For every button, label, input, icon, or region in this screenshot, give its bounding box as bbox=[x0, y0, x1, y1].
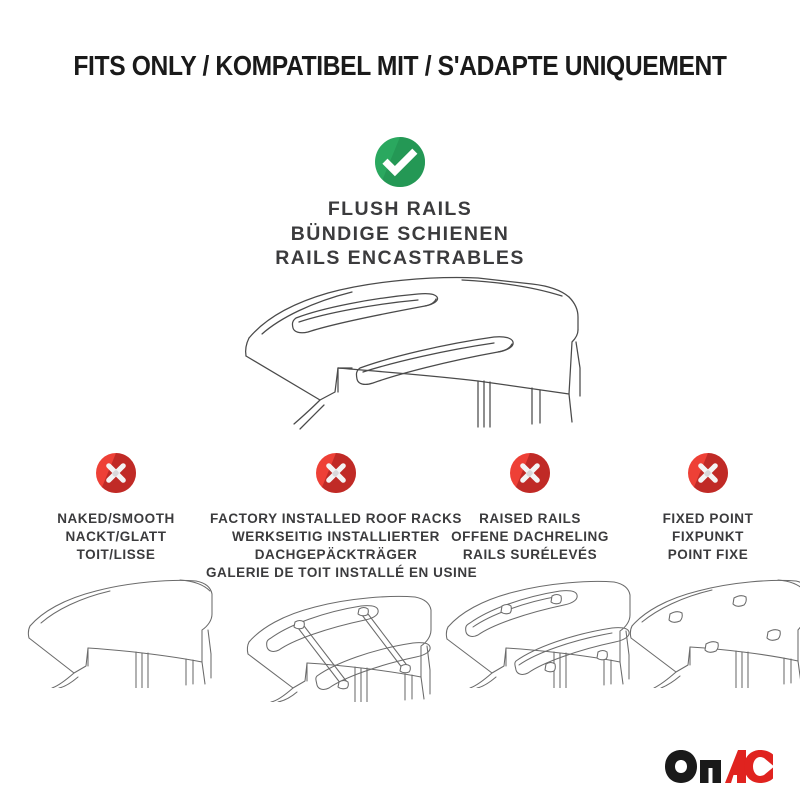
x-circle-icon bbox=[509, 452, 551, 494]
label-de: WERKSEITIG INSTALLIERTER bbox=[206, 528, 466, 546]
incompatible-item-naked-smooth: NAKED/SMOOTH NACKT/GLATT TOIT/LISSE bbox=[6, 452, 226, 690]
incompatible-item-factory-installed-roof-racks: FACTORY INSTALLED ROOF RACKS WERKSEITIG … bbox=[206, 452, 466, 704]
omac-logo: OMAC bbox=[663, 748, 775, 786]
label-fr: POINT FIXE bbox=[618, 546, 798, 564]
label-de-2: DACHGEPÄCKTRÄGER bbox=[206, 546, 466, 564]
compatible-label-de: BÜNDIGE SCHIENEN bbox=[0, 222, 800, 247]
label-fr: TOIT/LISSE bbox=[6, 546, 226, 564]
car-roof-raised-rails-illustration bbox=[432, 570, 628, 690]
compatible-labels: FLUSH RAILS BÜNDIGE SCHIENEN RAILS ENCAS… bbox=[0, 197, 800, 271]
label-fr: GALERIE DE TOIT INSTALLÉ EN USINE bbox=[206, 564, 466, 582]
incompatible-item-raised-rails: RAISED RAILS OFFENE DACHRELING RAILS SUR… bbox=[432, 452, 628, 690]
incompatible-labels: FACTORY INSTALLED ROOF RACKS WERKSEITIG … bbox=[206, 510, 466, 582]
incompatible-labels: RAISED RAILS OFFENE DACHRELING RAILS SUR… bbox=[432, 510, 628, 564]
label-en: FACTORY INSTALLED ROOF RACKS bbox=[206, 510, 466, 528]
label-fr: RAILS SURÉLEVÉS bbox=[432, 546, 628, 564]
car-roof-factory-racks-illustration bbox=[206, 584, 466, 704]
compatible-label-en: FLUSH RAILS bbox=[0, 197, 800, 222]
x-circle-icon bbox=[95, 452, 137, 494]
incompatible-section: NAKED/SMOOTH NACKT/GLATT TOIT/LISSE bbox=[0, 452, 800, 702]
logo-alt-text: OMAC bbox=[663, 786, 664, 787]
label-en: NAKED/SMOOTH bbox=[6, 510, 226, 528]
label-en: RAISED RAILS bbox=[432, 510, 628, 528]
car-roof-naked-smooth-illustration bbox=[6, 570, 226, 690]
incompatible-labels: NAKED/SMOOTH NACKT/GLATT TOIT/LISSE bbox=[6, 510, 226, 564]
label-en: FIXED POINT bbox=[618, 510, 798, 528]
compatible-section: FLUSH RAILS BÜNDIGE SCHIENEN RAILS ENCAS… bbox=[0, 136, 800, 271]
incompatible-labels: FIXED POINT FIXPUNKT POINT FIXE bbox=[618, 510, 798, 564]
incompatible-item-fixed-point: FIXED POINT FIXPUNKT POINT FIXE bbox=[618, 452, 798, 690]
car-roof-flush-rails-illustration bbox=[232, 272, 582, 432]
check-circle-icon bbox=[374, 136, 426, 188]
car-roof-fixed-point-illustration bbox=[618, 570, 798, 690]
x-circle-icon bbox=[315, 452, 357, 494]
page-title: FITS ONLY / KOMPATIBEL MIT / S'ADAPTE UN… bbox=[42, 52, 758, 80]
label-de: OFFENE DACHRELING bbox=[432, 528, 628, 546]
compatible-label-fr: RAILS ENCASTRABLES bbox=[0, 246, 800, 271]
header: FITS ONLY / KOMPATIBEL MIT / S'ADAPTE UN… bbox=[0, 52, 800, 80]
label-de: FIXPUNKT bbox=[618, 528, 798, 546]
label-de: NACKT/GLATT bbox=[6, 528, 226, 546]
x-circle-icon bbox=[687, 452, 729, 494]
